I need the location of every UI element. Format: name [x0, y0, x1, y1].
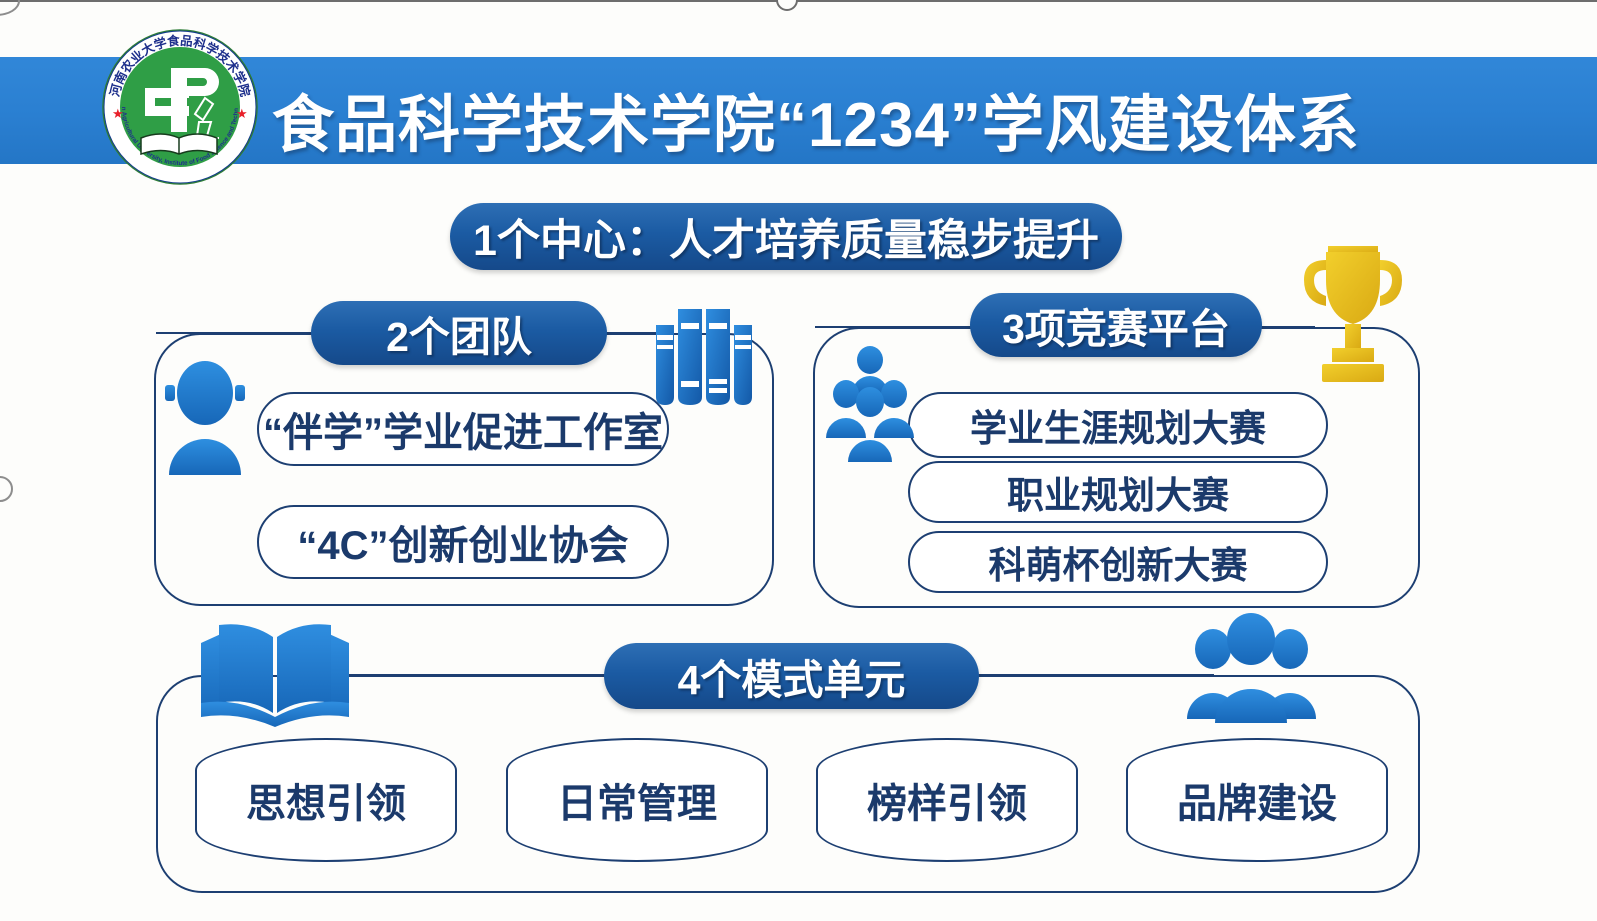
- competition-item-1: 学业生涯规划大赛: [908, 392, 1328, 458]
- center-banner: 1个中心：人才培养质量稳步提升: [450, 203, 1122, 270]
- trophy-icon: [1292, 240, 1414, 386]
- competitions-connector-left: [815, 326, 975, 328]
- person-icon: [163, 355, 247, 475]
- mode-item-1: 思想引领: [195, 738, 457, 862]
- competition-item-2: 职业规划大赛: [908, 461, 1328, 523]
- svg-text:★: ★: [112, 106, 124, 121]
- slide-canvas: 食品科学技术学院“1234”学风建设体系 河南农业大学食品科学技术学院 Hena…: [0, 0, 1597, 921]
- teams-title: 2个团队: [311, 301, 607, 365]
- mode-item-2: 日常管理: [506, 738, 768, 862]
- capture-frame-line: [0, 0, 1597, 2]
- modes-title: 4个模式单元: [604, 643, 979, 709]
- modes-connector-right: [974, 674, 1214, 676]
- edge-artifact-circle-top: [0, 0, 20, 16]
- books-icon: [652, 293, 756, 407]
- university-logo: 河南农业大学食品科学技术学院 Henan Agricultural Univer…: [101, 26, 259, 188]
- svg-text:★: ★: [236, 106, 248, 121]
- competitions-title: 3项竞赛平台: [970, 293, 1262, 357]
- edge-artifact-circle-left: [0, 476, 13, 502]
- open-book-icon: [199, 617, 351, 727]
- capture-frame-notch: [776, 0, 798, 11]
- team-item-1: “伴学”学业促进工作室: [257, 392, 669, 466]
- teams-connector-left: [156, 332, 314, 334]
- mode-item-4: 品牌建设: [1126, 738, 1388, 862]
- group-people-icon: [822, 346, 918, 462]
- team-item-2: “4C”创新创业协会: [257, 505, 669, 579]
- three-people-icon: [1185, 611, 1318, 723]
- competition-item-3: 科萌杯创新大赛: [908, 531, 1328, 593]
- mode-item-3: 榜样引领: [816, 738, 1078, 862]
- page-title: 食品科学技术学院“1234”学风建设体系: [272, 74, 1360, 164]
